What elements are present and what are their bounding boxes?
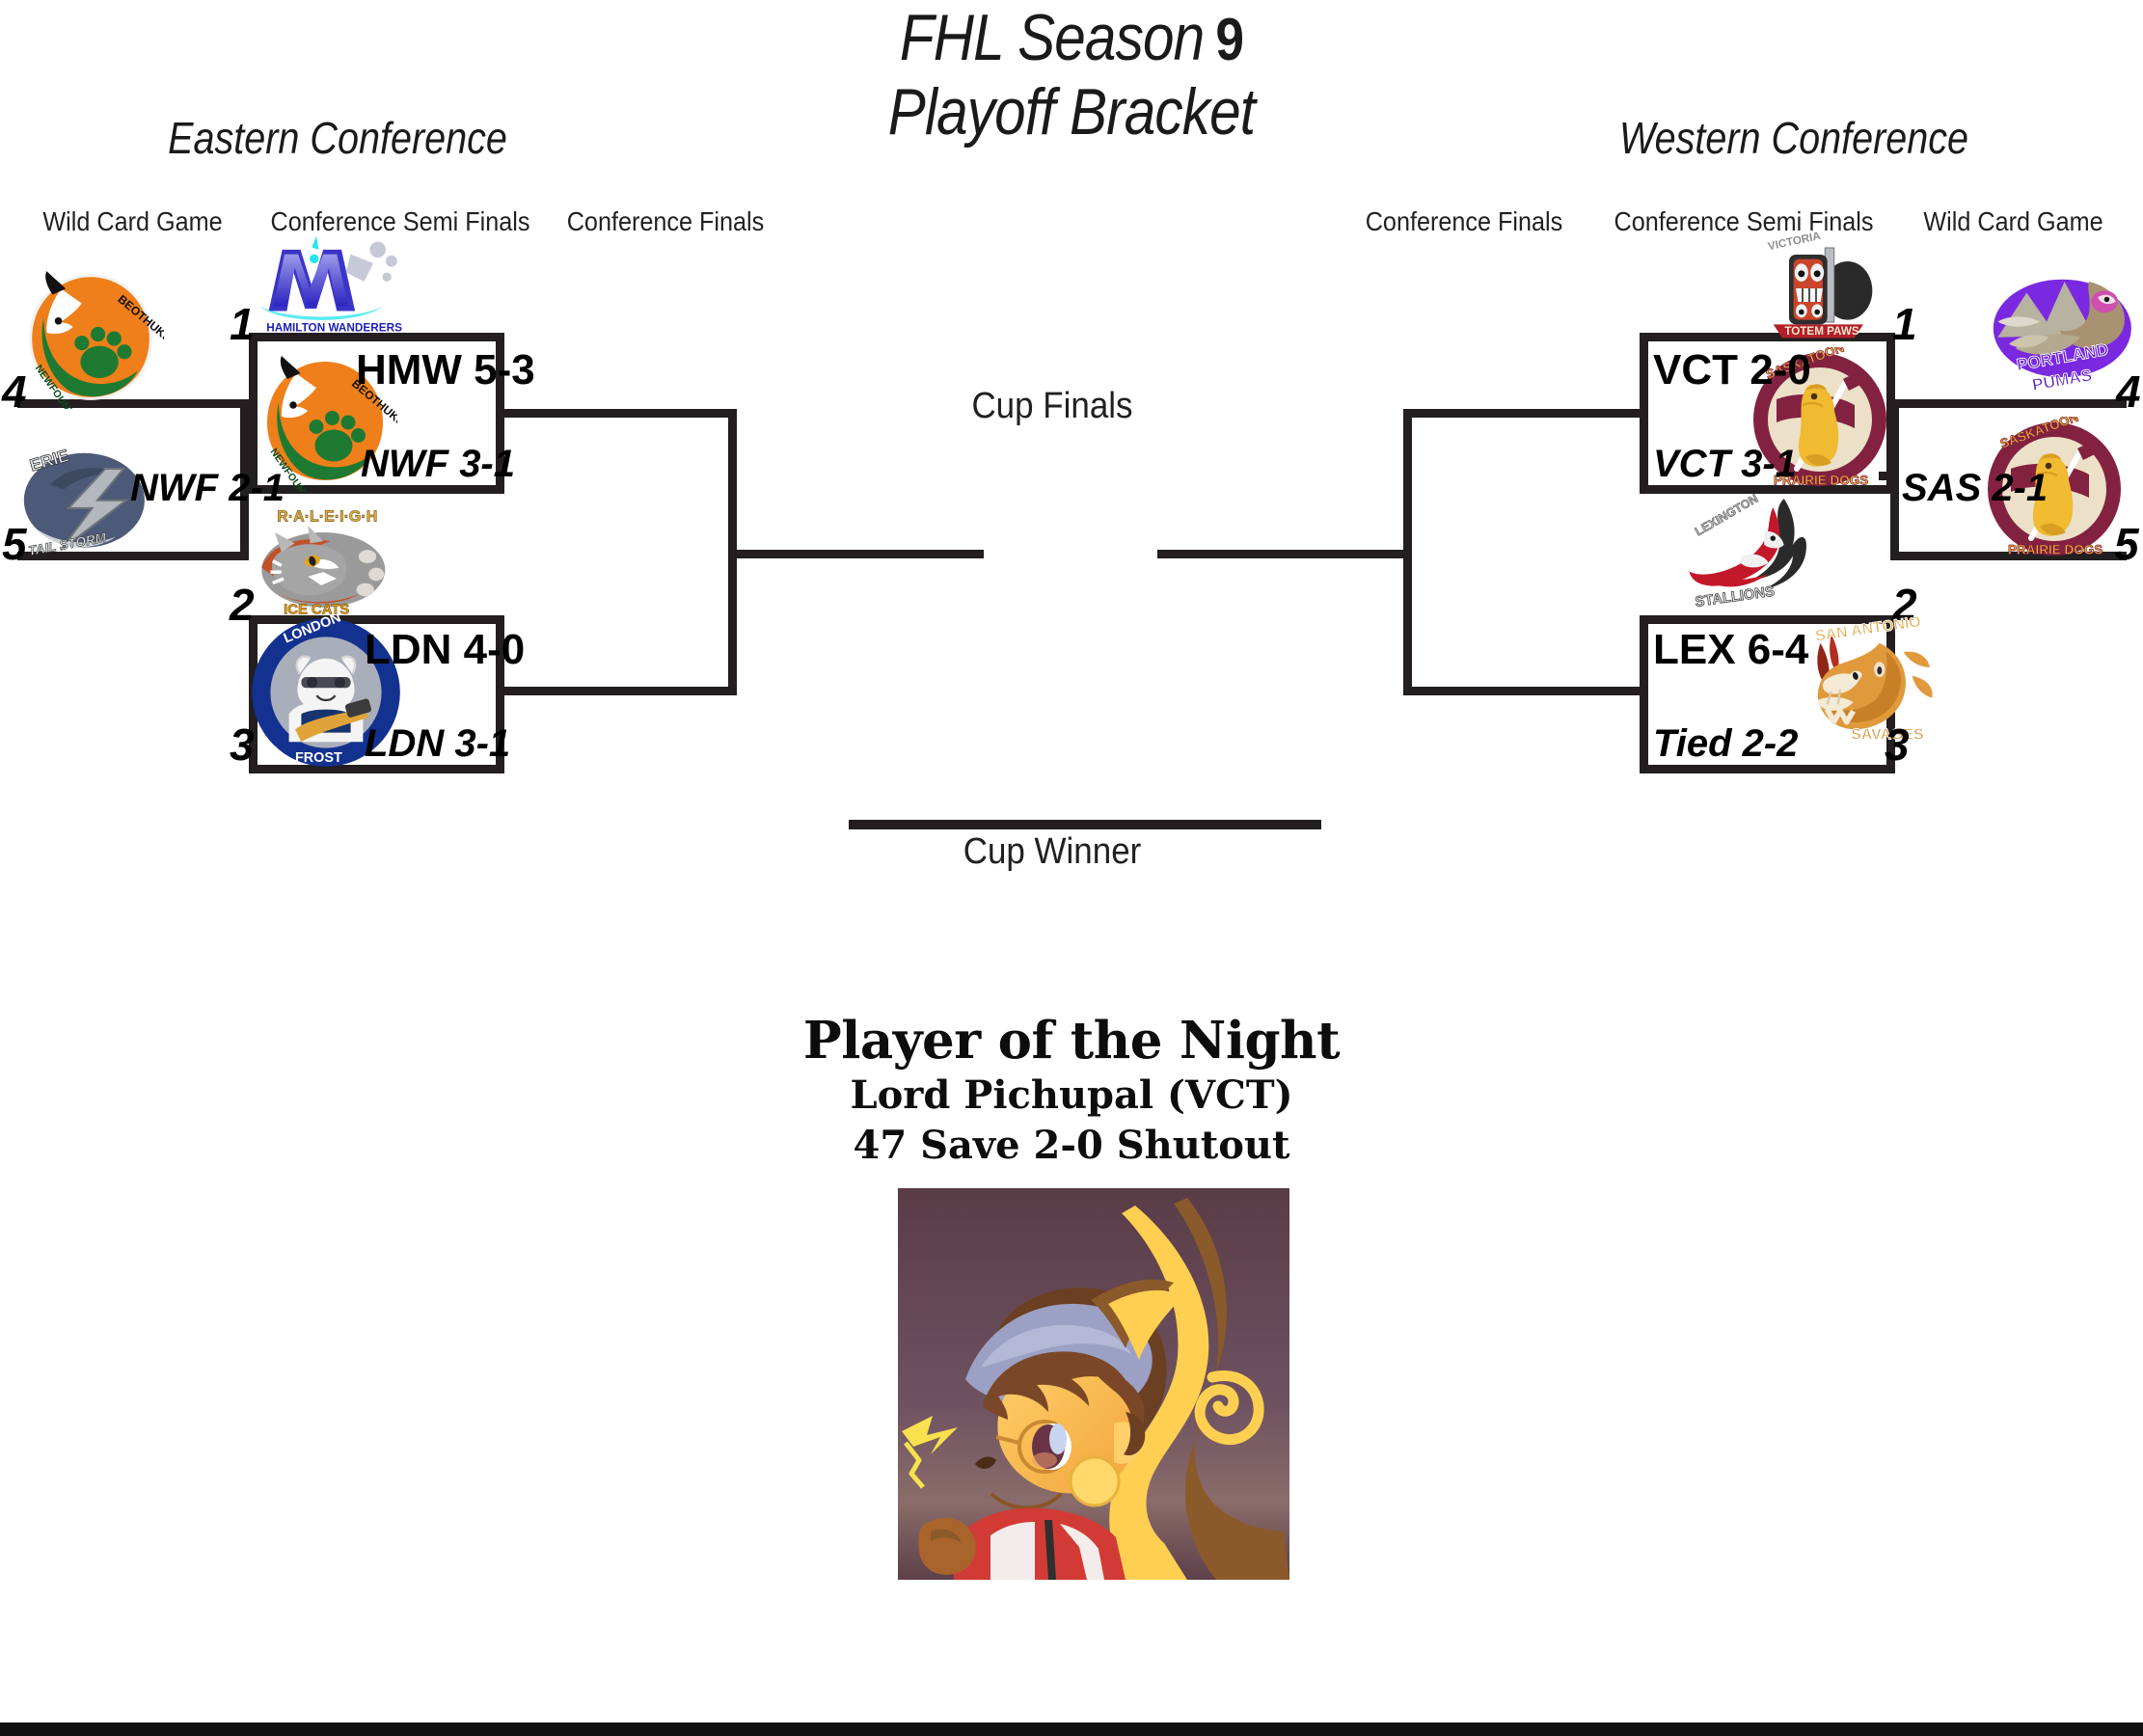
east-semi-top-score-bottom: NWF 3-1 bbox=[361, 444, 515, 484]
east-semi-bot-bottom-seed: 3 bbox=[230, 721, 255, 768]
svg-text:STALLIONS: STALLIONS bbox=[1695, 584, 1777, 610]
east-semi-top-score: HMW 5-3 bbox=[356, 348, 535, 393]
west-semi-bot-bottom-seed: 3 bbox=[1885, 721, 1910, 768]
title-line-1: FHL Season bbox=[900, 1, 1204, 74]
west-wc-top-line bbox=[1890, 399, 2127, 408]
east-wc-top-seed: 4 bbox=[2, 368, 27, 415]
west-round-conference-finals: Conference Finals bbox=[1334, 207, 1594, 236]
east-semi-top-seed: 1 bbox=[230, 301, 255, 347]
player-of-the-night-name: Lord Pichupal (VCT) bbox=[0, 1071, 2143, 1121]
logo-victoria-totem-paws: TOTEM PAWS VICTORIA bbox=[1755, 231, 1890, 345]
svg-text:HAMILTON WANDERERS: HAMILTON WANDERERS bbox=[266, 322, 402, 335]
logo-portland-pumas: PORTLAND PUMAS bbox=[1982, 253, 2138, 397]
logo-newfoundland-beothuks-wildcard: BEOTHUKS NEWFOUNDLAND bbox=[17, 262, 164, 409]
footer-bar bbox=[0, 1722, 2143, 1736]
east-final-upper bbox=[496, 409, 737, 418]
player-of-the-night-stat: 47 Save 2-0 Shutout bbox=[0, 1121, 2143, 1171]
west-final-upper bbox=[1403, 409, 1644, 418]
svg-text:SAN ANTONIO: SAN ANTONIO bbox=[1814, 617, 1921, 645]
logo-hamilton-wanderers: HAMILTON WANDERERS bbox=[246, 231, 405, 339]
eastern-conference-title: Eastern Conference bbox=[130, 114, 545, 162]
west-wc-result: SAS 2-1 bbox=[1902, 468, 2048, 508]
east-semi-bot-score: LDN 4-0 bbox=[365, 628, 525, 672]
west-semi-bot-lower bbox=[1640, 765, 1895, 773]
svg-text:LEXINGTON: LEXINGTON bbox=[1693, 492, 1760, 539]
player-of-the-night-block: Player of the Night Lord Pichupal (VCT) … bbox=[0, 1011, 2143, 1171]
east-round-conference-finals: Conference Finals bbox=[535, 207, 796, 236]
west-wc-bottom-seed: 5 bbox=[2114, 521, 2139, 567]
svg-text:VICTORIA: VICTORIA bbox=[1767, 231, 1823, 253]
east-final-out bbox=[728, 550, 984, 558]
player-of-the-night-heading: Player of the Night bbox=[0, 1011, 2143, 1071]
east-final-lower bbox=[496, 687, 737, 695]
logo-lexington-stallions: LEXINGTON STALLIONS bbox=[1678, 490, 1832, 615]
logo-raleigh-ice-cats: R·A·L·E·I·G·H ICE CATS bbox=[244, 502, 398, 617]
west-round-wild-card: Wild Card Game bbox=[1894, 207, 2133, 236]
svg-text:FROST: FROST bbox=[295, 750, 342, 766]
west-semi-top-score-bottom: VCT 3-1 bbox=[1653, 444, 1797, 484]
cup-winner-label: Cup Winner bbox=[919, 831, 1185, 872]
player-of-the-night-portrait bbox=[898, 1188, 1289, 1580]
svg-text:TOTEM PAWS: TOTEM PAWS bbox=[1784, 325, 1859, 338]
svg-text:PRAIRIE DOGS: PRAIRIE DOGS bbox=[2008, 543, 2102, 557]
season-number: 9 bbox=[1204, 5, 1243, 76]
west-semi-bot-score-bottom: Tied 2-2 bbox=[1653, 723, 1798, 764]
cup-winner-line bbox=[849, 820, 1321, 829]
east-semi-bot-score-bottom: LDN 3-1 bbox=[365, 723, 510, 764]
cup-finals-label: Cup Finals bbox=[919, 386, 1185, 426]
west-final-out bbox=[1157, 550, 1408, 558]
west-wc-top-seed: 4 bbox=[2116, 368, 2141, 415]
west-semi-top-seed: 1 bbox=[1892, 301, 1917, 347]
western-conference-title: Western Conference bbox=[1587, 114, 2001, 162]
west-semi-bot-score: LEX 6-4 bbox=[1653, 628, 1808, 672]
svg-text:R·A·L·E·I·G·H: R·A·L·E·I·G·H bbox=[277, 509, 377, 526]
title-line-2: Playoff Bracket bbox=[888, 75, 1255, 149]
west-semi-top-score: VCT 2-0 bbox=[1653, 348, 1811, 393]
east-wc-bottom-seed: 5 bbox=[2, 521, 27, 567]
west-final-lower bbox=[1403, 687, 1644, 695]
east-round-wild-card: Wild Card Game bbox=[14, 207, 253, 236]
